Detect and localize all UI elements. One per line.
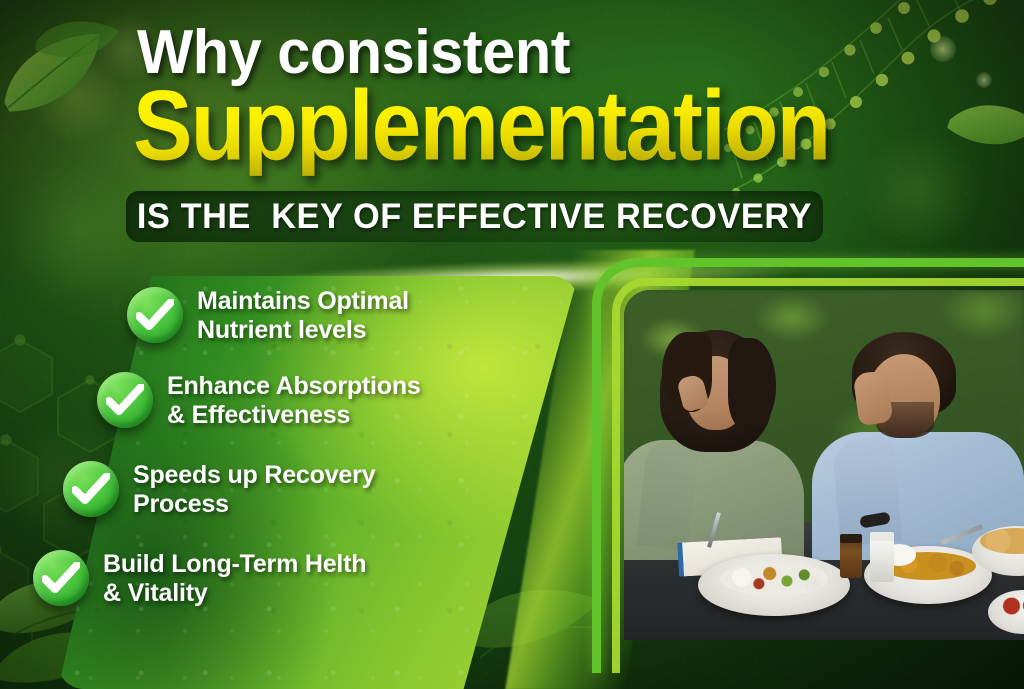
benefits-list: Maintains Optimal Nutrient levels Enhanc… bbox=[0, 0, 560, 689]
list-item: Enhance Absorptions & Effectiveness bbox=[97, 372, 517, 429]
couple-photo bbox=[624, 290, 1024, 640]
bottle-cap bbox=[840, 534, 862, 543]
check-circle-icon bbox=[97, 372, 153, 428]
check-circle-icon bbox=[33, 550, 89, 606]
supplement-bottle-white bbox=[870, 538, 894, 582]
check-circle-icon bbox=[63, 461, 119, 517]
list-item-label: Maintains Optimal Nutrient levels bbox=[197, 287, 409, 344]
leaf-icon bbox=[937, 80, 1024, 176]
list-item: Speeds up Recovery Process bbox=[63, 461, 483, 518]
supplementation-poster: Why consistent Supplementation IS THE KE… bbox=[0, 0, 1024, 689]
bottle-cap bbox=[870, 532, 894, 541]
list-item-label: Build Long-Term Helth & Vitality bbox=[103, 550, 366, 607]
list-item: Build Long-Term Helth & Vitality bbox=[33, 550, 453, 607]
man-arm bbox=[831, 435, 902, 546]
bokeh-dots bbox=[976, 72, 992, 88]
list-item: Maintains Optimal Nutrient levels bbox=[127, 287, 527, 344]
rice-plate-food bbox=[720, 562, 828, 596]
list-item-label: Enhance Absorptions & Effectiveness bbox=[167, 372, 421, 429]
supplement-bottle-amber bbox=[840, 540, 862, 578]
bokeh-dots bbox=[930, 36, 956, 62]
woman-hair-front bbox=[728, 338, 776, 430]
check-circle-icon bbox=[127, 287, 183, 343]
list-item-label: Speeds up Recovery Process bbox=[133, 461, 375, 518]
